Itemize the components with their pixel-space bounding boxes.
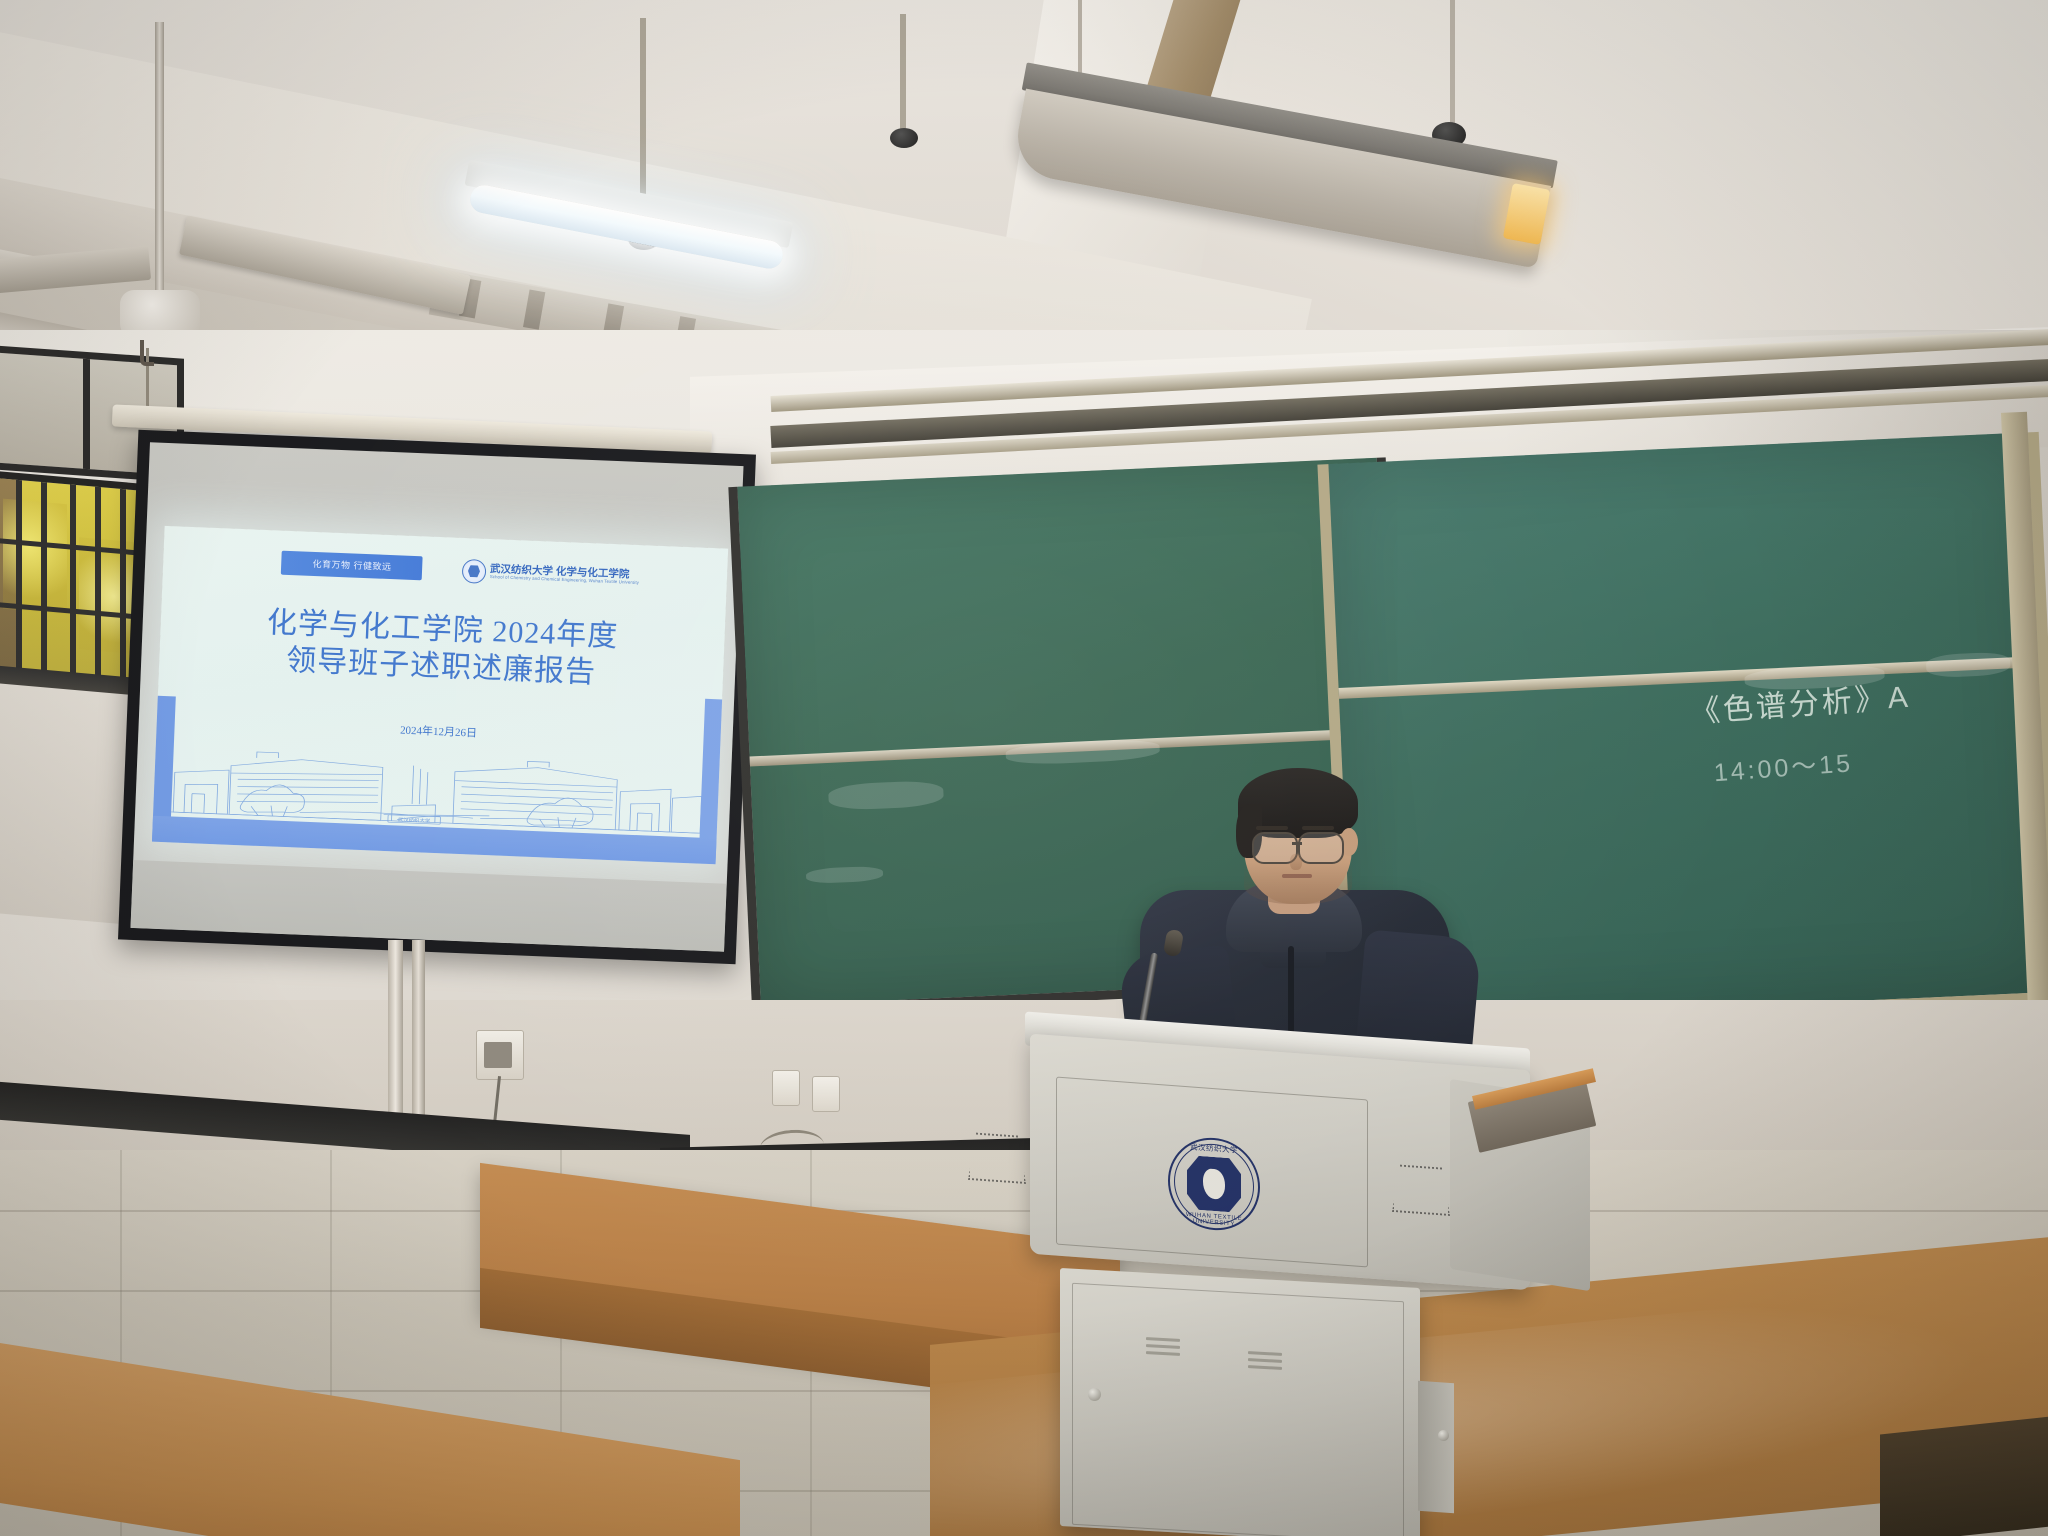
lectern-vent [1146,1337,1180,1359]
wall-control-box-face [484,1042,512,1068]
screen-blank-area [130,860,726,952]
school-logo: 武汉纺织大学 化学与化工学院 School of Chemistry and C… [461,555,688,596]
eyeglasses-bridge [1292,842,1302,845]
lectern-cabinet-door[interactable] [1072,1283,1404,1536]
lectern-decal [1392,1164,1450,1216]
lectern-support-leg [1418,1381,1454,1514]
power-outlet[interactable] [812,1076,840,1112]
foliage [3,499,66,615]
chalkboard-text-line-2: 14:00～15 [1713,731,2037,790]
slide-title: 化学与化工学院 2024年度 领导班子述职述廉报告 [192,603,691,696]
campus-sign-text: 武汉纺织大学 [398,817,431,825]
eyeglasses-lens [1298,832,1344,864]
lectern-vent [1248,1351,1282,1373]
university-emblem: 武汉纺织大学 WUHAN TEXTILE UNIVERSITY [1168,1135,1260,1234]
wall-pipe [412,940,425,1140]
speaker-eyebrow [1302,826,1334,830]
projection-screen[interactable]: 化育万物 行健致远 武汉纺织大学 化学与化工学院 School of Chemi… [118,430,756,964]
ceiling-hook [140,340,154,366]
ceiling-fan-rod [155,22,164,302]
light-mount-cap [890,128,918,148]
lectern-decal [968,1132,1026,1184]
slide-banner-tag: 化育万物 行健致远 [281,551,423,580]
speaker-mouth [1282,874,1312,878]
light-suspension-rod [900,14,906,134]
lectern[interactable]: 武汉纺织大学 WUHAN TEXTILE UNIVERSITY [1020,1030,1610,1536]
lectern-lock[interactable] [1088,1388,1101,1401]
wall-pipe [388,940,403,1140]
slide-banner-text: 化育万物 行健致远 [312,557,391,573]
lectern-bolt [1438,1430,1449,1441]
light-suspension-rod [1450,0,1455,130]
speaker-nose [1290,854,1302,870]
classroom-photo: 化育万物 行健致远 武汉纺织大学 化学与化工学院 School of Chemi… [0,0,2048,1536]
speaker-eyebrow [1256,826,1288,830]
power-outlet[interactable] [772,1070,800,1106]
screen-surface: 化育万物 行健致远 武汉纺织大学 化学与化工学院 School of Chemi… [130,442,743,951]
stage-shadow-strip [1880,1416,2048,1536]
university-seal-icon [461,559,486,584]
presentation-slide: 化育万物 行健致远 武汉纺织大学 化学与化工学院 School of Chemi… [152,526,729,864]
